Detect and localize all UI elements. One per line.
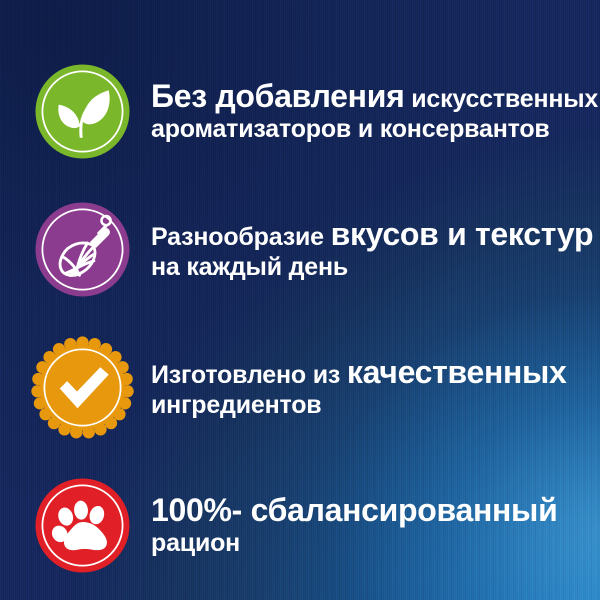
paw-icon [33,476,132,575]
feature-text-no-additives: Без добавления искусственных ароматизато… [151,79,571,144]
feature-text-variety: Разнообразие вкусов и текстур на каждый … [151,217,571,282]
feature-item-no-additives: Без добавления искусственных ароматизато… [0,42,600,180]
feature-line-1-bold: качественных [347,354,567,390]
badge-quality [33,338,132,437]
badge-balanced [33,476,132,575]
feature-text-balanced: 100%- сбалансированный рацион [151,493,557,558]
badge-variety [33,200,132,299]
feature-item-balanced: 100%- сбалансированный рацион [0,456,600,594]
promo-banner: Без добавления искусственных ароматизато… [0,0,600,600]
feature-line-1: Изготовлено из качественных [151,355,567,390]
feature-line-2-regular: ароматизаторов и консервантов [151,115,550,143]
feature-line-1-bold: Без добавления [151,78,404,114]
check-icon [33,338,132,437]
feature-line-1-bold: 100%- сбалансированный [151,492,557,528]
feature-item-variety: Разнообразие вкусов и текстур на каждый … [0,180,600,318]
badge-no-additives [33,62,132,161]
whisk-icon [33,200,132,299]
feature-line-2-regular: рацион [151,529,240,557]
feature-line-1: 100%- сбалансированный [151,493,557,528]
feature-line-1-bold: вкусов и текстур [331,216,594,252]
feature-text-quality: Изготовлено из качественных ингредиентов [151,355,567,420]
feature-line-1-regular: Изготовлено из [151,361,347,389]
leaf-icon [33,62,132,161]
feature-line-1: Без добавления искусственных [151,79,571,114]
feature-item-quality: Изготовлено из качественных ингредиентов [0,318,600,456]
feature-line-2: рацион [151,530,557,558]
feature-line-1-regular: Разнообразие [151,223,331,251]
feature-line-2: ароматизаторов и консервантов [151,116,571,144]
feature-line-2-regular: на каждый день [151,253,348,281]
feature-list: Без добавления искусственных ароматизато… [0,0,600,600]
feature-line-2: на каждый день [151,254,571,282]
feature-line-1: Разнообразие вкусов и текстур [151,217,571,252]
feature-line-2-regular: ингредиентов [151,391,321,419]
feature-line-1-regular: искусственных [404,85,598,113]
feature-line-2: ингредиентов [151,392,567,420]
